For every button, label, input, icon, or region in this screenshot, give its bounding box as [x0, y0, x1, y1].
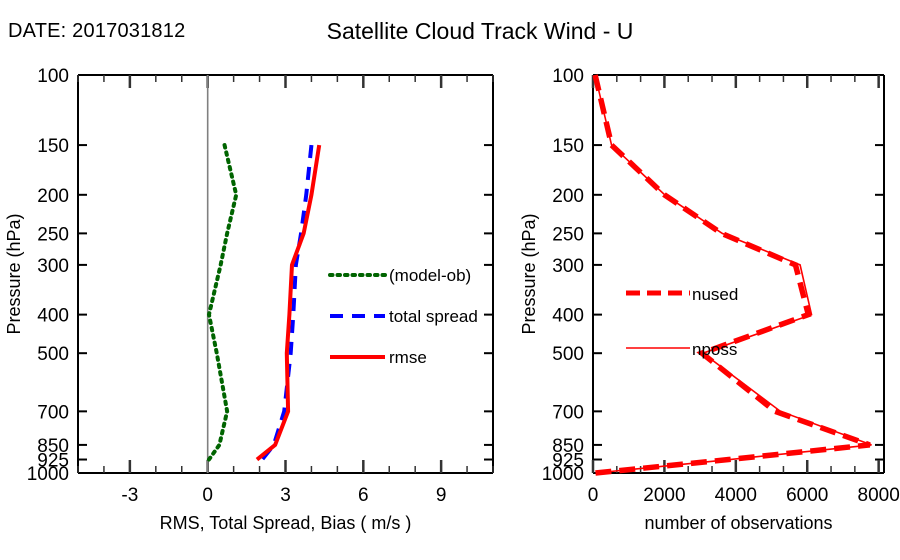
chart-page: DATE: 2017031812 Satellite Cloud Track W…	[0, 0, 900, 560]
y-tick-label: 700	[37, 402, 69, 423]
series-rmse	[257, 145, 319, 459]
legend-label-0: (model-ob)	[389, 266, 471, 285]
x-tick-label: 4000	[715, 485, 757, 506]
y-tick-label: 700	[552, 402, 584, 423]
y-tick-label: 1000	[542, 464, 584, 485]
y-tick-label: 400	[37, 306, 69, 327]
x-tick-label: 9	[436, 485, 447, 506]
y-tick-label: 1000	[27, 464, 69, 485]
y-tick-label: 300	[37, 256, 69, 277]
x-tick-label: -3	[121, 485, 138, 506]
y-axis-title: Pressure (hPa)	[519, 213, 539, 334]
y-tick-label: 300	[552, 256, 584, 277]
legend-label-1: total spread	[389, 307, 478, 326]
y-tick-label: 250	[37, 224, 69, 245]
y-tick-label: 400	[552, 306, 584, 327]
legend-label-r0: nused	[692, 285, 738, 304]
x-axis-title: number of observations	[644, 513, 832, 533]
y-axis-title: Pressure (hPa)	[4, 213, 24, 334]
legend-left: (model-ob)total spreadrmse	[330, 266, 478, 367]
x-tick-label: 6	[358, 485, 369, 506]
y-tick-label: 200	[37, 186, 69, 207]
x-tick-label: 8000	[858, 485, 900, 506]
y-tick-label: 500	[37, 344, 69, 365]
x-tick-label: 6000	[786, 485, 828, 506]
legend-label-r1: nposs	[692, 340, 737, 359]
x-tick-label: 0	[588, 485, 599, 506]
legend-label-2: rmse	[389, 348, 427, 367]
x-tick-label: 0	[202, 485, 213, 506]
legend-right: nusednposs	[626, 285, 738, 359]
y-tick-label: 100	[37, 66, 69, 87]
y-tick-label: 500	[552, 344, 584, 365]
series--model-ob-	[209, 145, 236, 459]
x-tick-label: 3	[280, 485, 291, 506]
series-nposs	[595, 75, 871, 473]
y-tick-label: 100	[552, 66, 584, 87]
series-nused	[595, 75, 870, 473]
panel-left: 1001502002503004005007008509251000-30369…	[4, 66, 493, 533]
y-tick-label: 150	[37, 136, 69, 157]
x-tick-label: 2000	[643, 485, 685, 506]
y-tick-label: 250	[552, 224, 584, 245]
x-axis-title: RMS, Total Spread, Bias ( m/s )	[160, 513, 412, 533]
y-tick-label: 150	[552, 136, 584, 157]
plot-canvas: 1001502002503004005007008509251000-30369…	[0, 0, 900, 560]
y-tick-label: 200	[552, 186, 584, 207]
